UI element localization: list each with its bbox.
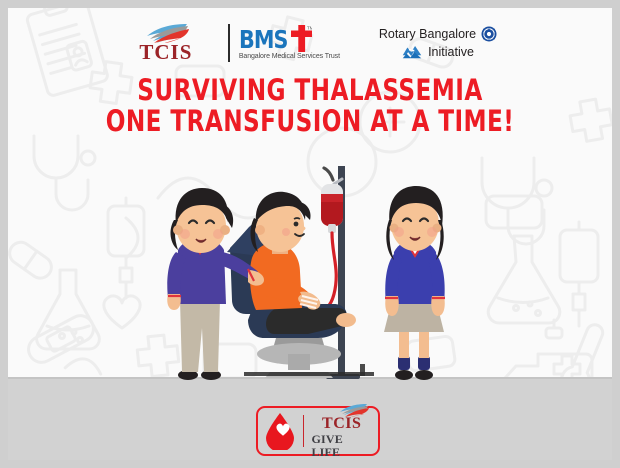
blood-transfusion-illustration [8,8,612,460]
footer-badge[interactable]: TCIS GIVE LIFE [256,406,380,456]
standing-girl-right [384,186,445,380]
poster-stage: TCIS BMS TM Bangalore Medical Services T… [8,8,612,460]
poster-canvas: TCIS BMS TM Bangalore Medical Services T… [0,0,620,468]
badge-text-group: TCIS GIVE LIFE [311,403,372,459]
badge-tagline: GIVE LIFE [311,433,372,459]
badge-title: TCIS [322,416,361,433]
blood-drop-heart-icon [264,412,296,450]
badge-divider [303,415,304,447]
